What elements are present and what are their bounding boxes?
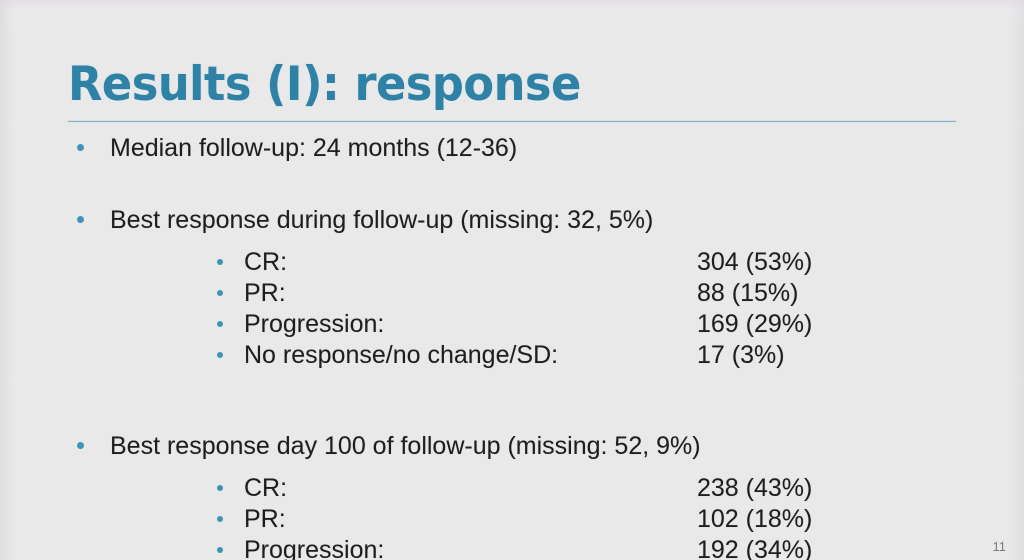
title-block: Results (I): response — [68, 58, 958, 112]
response-value: 17 (3%) — [697, 340, 785, 371]
bullet-dot-icon — [217, 485, 223, 491]
spacer — [0, 371, 1024, 405]
response-label: Progression: — [210, 309, 384, 340]
bullet-dot-icon — [217, 321, 223, 327]
bullet-dot-icon — [217, 290, 223, 296]
bullet-median-followup-label: Median follow-up: 24 months (12-36) — [76, 131, 517, 165]
response-label: Progression: — [210, 535, 384, 560]
list-item: CR: 238 (43%) — [0, 473, 1024, 504]
response-value: 238 (43%) — [697, 473, 812, 504]
page-number: 11 — [993, 539, 1007, 554]
bullet-dot-icon — [217, 547, 223, 553]
list-item: PR: 88 (15%) — [0, 278, 1024, 309]
response-value: 304 (53%) — [697, 247, 812, 278]
bullet-dot-icon — [217, 352, 223, 358]
page-title: Results (I): response — [68, 58, 914, 112]
bullet-dot-icon — [217, 516, 223, 522]
response-value: 169 (29%) — [697, 309, 812, 340]
spacer — [0, 169, 1024, 203]
response-value: 88 (15%) — [697, 278, 798, 309]
list-item: PR: 102 (18%) — [0, 504, 1024, 535]
bullet-dot-icon — [77, 442, 84, 449]
title-underline-rule — [68, 120, 956, 123]
list-item: CR: 304 (53%) — [0, 247, 1024, 278]
bullet-dot-icon — [217, 259, 223, 265]
list-item: Progression: 169 (29%) — [0, 309, 1024, 340]
section-heading-label: Best response during follow-up (missing:… — [76, 203, 653, 237]
list-item: Progression: 192 (34%) — [0, 535, 1024, 560]
list-item: No response/no change/SD: 17 (3%) — [0, 340, 1024, 371]
bullet-section-heading-day-100: Best response day 100 of follow-up (miss… — [0, 429, 1024, 467]
presentation-slide: Results (I): response Median follow-up: … — [0, 0, 1024, 560]
response-label: No response/no change/SD: — [210, 340, 558, 371]
bullet-median-followup: Median follow-up: 24 months (12-36) — [0, 131, 1024, 169]
response-value: 102 (18%) — [697, 504, 812, 535]
spacer — [0, 405, 1024, 429]
bullet-dot-icon — [77, 144, 84, 151]
response-value: 192 (34%) — [697, 535, 812, 560]
slide-body: Median follow-up: 24 months (12-36) Best… — [0, 131, 1024, 560]
section-heading-label: Best response day 100 of follow-up (miss… — [76, 429, 701, 463]
bullet-section-heading-during-followup: Best response during follow-up (missing:… — [0, 203, 1024, 241]
bullet-dot-icon — [77, 216, 84, 223]
